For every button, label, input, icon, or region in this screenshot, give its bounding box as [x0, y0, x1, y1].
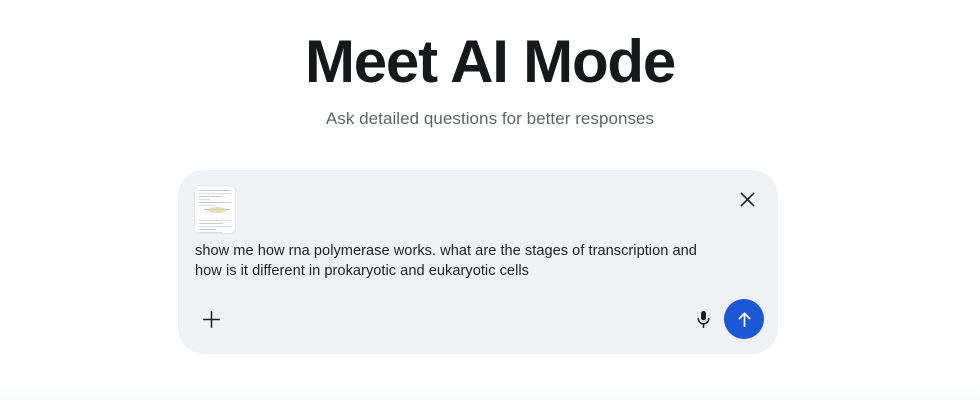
prompt-input[interactable]: show me how rna polymerase works. what a… [195, 242, 725, 281]
send-button[interactable] [724, 299, 764, 339]
document-thumbnail-icon [195, 186, 235, 233]
attachment-thumbnail[interactable] [195, 186, 235, 233]
composer-card: show me how rna polymerase works. what a… [178, 170, 778, 354]
close-button[interactable] [730, 182, 764, 216]
close-icon [740, 192, 755, 207]
composer-toolbar [178, 297, 778, 345]
footer-divider [0, 388, 980, 400]
plus-icon [202, 310, 221, 332]
hero-section: Meet AI Mode Ask detailed questions for … [0, 30, 980, 130]
page-title: Meet AI Mode [0, 30, 980, 94]
arrow-up-icon [735, 310, 754, 329]
microphone-icon [695, 310, 712, 332]
voice-input-button[interactable] [686, 304, 720, 338]
page-subtitle: Ask detailed questions for better respon… [0, 108, 980, 130]
ai-mode-page: Meet AI Mode Ask detailed questions for … [0, 0, 980, 400]
add-attachment-button[interactable] [194, 304, 228, 338]
